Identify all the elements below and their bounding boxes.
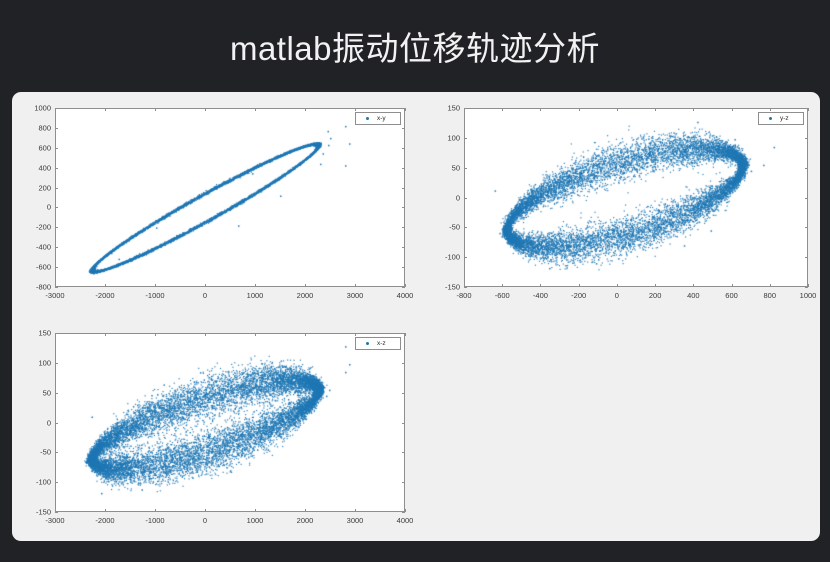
plot-area-x-z: -150-100-50050100150-3000-2000-100001000…	[15, 320, 415, 540]
figure-y-z[interactable]: -150-100-50050100150-800-600-400-2000200…	[430, 95, 818, 315]
app-root: matlab振动位移轨迹分析 -800-600-400-200020040060…	[0, 0, 830, 562]
legend-marker-icon	[366, 117, 369, 120]
legend-yz[interactable]: y-z	[758, 112, 804, 125]
legend-xz[interactable]: x-z	[355, 337, 401, 350]
legend-label: x-z	[377, 340, 386, 347]
plot-area-x-y: -800-600-400-20002004006008001000-3000-2…	[15, 95, 415, 315]
figure-x-z[interactable]: -150-100-50050100150-3000-2000-100001000…	[15, 320, 415, 540]
scatter-canvas-xz	[15, 320, 415, 540]
figure-x-y[interactable]: -800-600-400-20002004006008001000-3000-2…	[15, 95, 415, 315]
plot-area-y-z: -150-100-50050100150-800-600-400-2000200…	[430, 95, 818, 315]
legend-marker-icon	[769, 117, 772, 120]
legend-label: x-y	[377, 115, 386, 122]
title-bar: matlab振动位移轨迹分析	[0, 0, 830, 92]
page-title: matlab振动位移轨迹分析	[230, 22, 600, 70]
scatter-canvas-yz	[430, 95, 818, 315]
legend-xy[interactable]: x-y	[355, 112, 401, 125]
legend-marker-icon	[366, 342, 369, 345]
content-panel: -800-600-400-20002004006008001000-3000-2…	[12, 92, 820, 541]
scatter-canvas-xy	[15, 95, 415, 315]
legend-label: y-z	[780, 115, 789, 122]
